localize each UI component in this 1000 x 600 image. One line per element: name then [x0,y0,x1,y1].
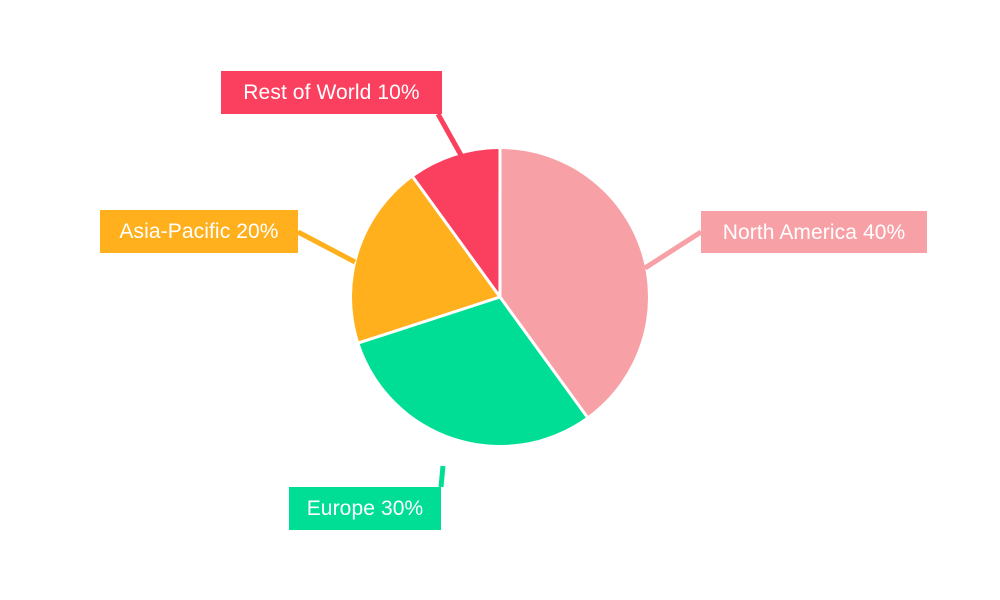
slice-label-asia-pacific: Asia-Pacific 20% [100,210,298,253]
pie-chart-canvas [0,0,1000,600]
slice-label-asia-pacific-text: Asia-Pacific 20% [119,221,278,242]
slice-label-north-america-text: North America 40% [723,222,906,243]
slice-label-north-america: North America 40% [701,211,927,253]
leader-line-europe [441,466,443,487]
slice-label-rest-of-world-text: Rest of World 10% [243,82,419,103]
pie-slice-group [352,149,648,445]
slice-label-rest-of-world: Rest of World 10% [221,71,442,114]
leader-line-north-america [645,232,701,268]
slice-label-europe: Europe 30% [289,487,441,530]
slice-label-europe-text: Europe 30% [307,498,424,519]
leader-line-asia-pacific [298,232,355,262]
pie-chart-figure: North America 40% Europe 30% Asia-Pacifi… [0,0,1000,600]
leader-line-rest-of-world [438,114,462,157]
